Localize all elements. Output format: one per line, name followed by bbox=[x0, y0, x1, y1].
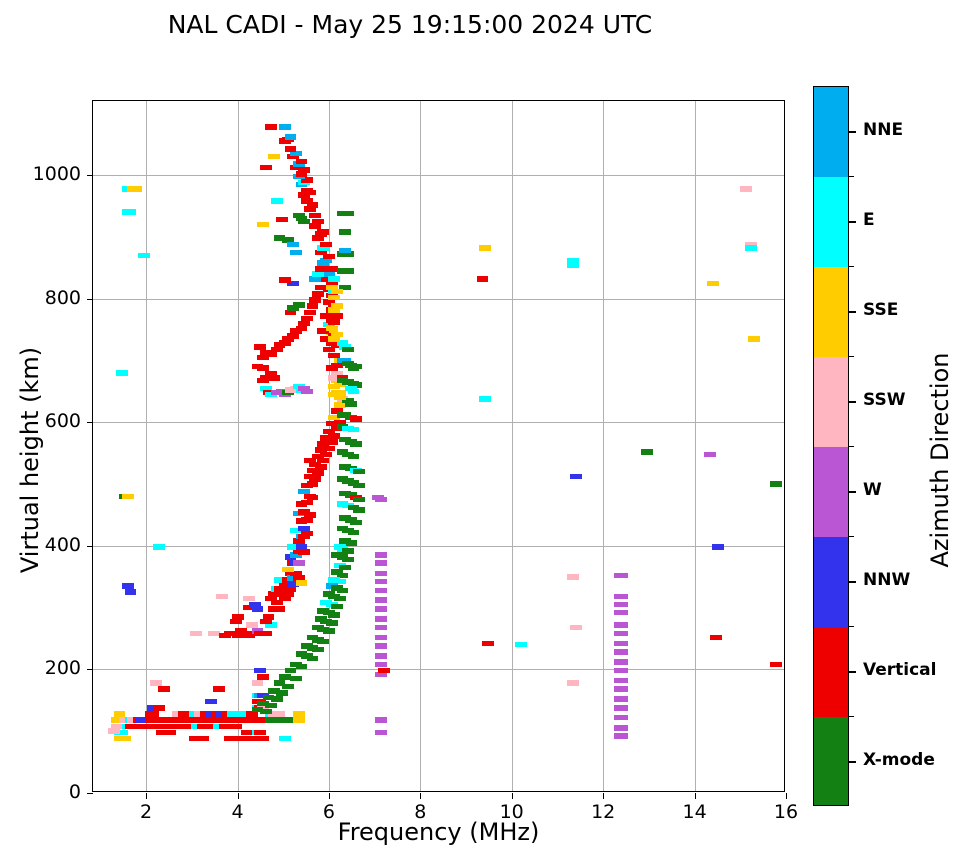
scatter-point bbox=[274, 606, 286, 612]
scatter-point bbox=[375, 597, 387, 603]
y-axis-title: Virtual height (km) bbox=[16, 280, 44, 640]
scatter-point bbox=[114, 736, 126, 742]
scatter-point bbox=[293, 711, 305, 717]
y-tick-label: 1000 bbox=[11, 163, 81, 185]
colorbar-title: Azimuth Direction bbox=[926, 280, 954, 640]
scatter-point bbox=[293, 302, 305, 308]
scatter-point bbox=[345, 401, 357, 407]
scatter-point bbox=[216, 594, 228, 600]
scatter-point bbox=[197, 736, 209, 742]
scatter-point bbox=[616, 631, 628, 637]
scatter-point bbox=[479, 396, 491, 402]
scatter-point bbox=[108, 728, 120, 734]
scatter-point bbox=[232, 614, 244, 620]
colorbar-boundary-tick bbox=[849, 716, 854, 717]
scatter-point bbox=[378, 668, 390, 674]
scatter-point bbox=[326, 285, 338, 291]
scatter-point bbox=[515, 642, 527, 648]
scatter-point bbox=[312, 291, 324, 297]
scatter-point bbox=[375, 497, 387, 503]
scatter-point bbox=[375, 653, 387, 659]
scatter-point bbox=[260, 631, 272, 637]
scatter-point bbox=[710, 635, 722, 641]
scatter-point bbox=[342, 347, 354, 353]
scatter-point bbox=[190, 631, 202, 637]
scatter-point bbox=[337, 588, 349, 594]
scatter-point bbox=[276, 217, 288, 223]
scatter-point bbox=[230, 724, 242, 730]
scatter-point bbox=[265, 703, 277, 709]
scatter-point bbox=[375, 625, 387, 631]
scatter-point bbox=[320, 242, 332, 248]
scatter-point bbox=[350, 520, 362, 526]
scatter-point bbox=[339, 248, 351, 254]
scatter-point bbox=[616, 610, 628, 616]
scatter-point bbox=[375, 643, 387, 649]
colorbar-boundary-tick bbox=[849, 536, 854, 537]
scatter-point bbox=[342, 548, 354, 554]
scatter-point bbox=[567, 680, 579, 686]
scatter-point bbox=[285, 586, 297, 592]
y-tick bbox=[87, 793, 93, 794]
scatter-point bbox=[326, 439, 338, 445]
scatter-point bbox=[375, 571, 387, 577]
scatter-point bbox=[328, 319, 340, 325]
colorbar-segment-x-mode bbox=[814, 717, 848, 806]
colorbar-label-ssw: SSW bbox=[863, 390, 905, 410]
scatter-point bbox=[477, 276, 489, 282]
scatter-point bbox=[570, 625, 582, 631]
scatter-point bbox=[287, 242, 299, 248]
colorbar-segment-e bbox=[814, 177, 848, 267]
scatter-point bbox=[375, 717, 387, 723]
scatter-point bbox=[320, 452, 332, 458]
scatter-point bbox=[296, 159, 308, 165]
scatter-point bbox=[342, 211, 354, 217]
scatter-point bbox=[307, 303, 319, 309]
x-tick bbox=[420, 793, 421, 799]
scatter-point bbox=[616, 602, 628, 608]
scatter-point bbox=[770, 481, 782, 487]
scatter-point bbox=[116, 370, 128, 376]
scatter-point bbox=[707, 281, 719, 287]
page-title: NAL CADI - May 25 19:15:00 2024 UTC bbox=[0, 10, 820, 39]
colorbar-tick bbox=[849, 311, 856, 313]
scatter-point bbox=[375, 730, 387, 736]
scatter-point bbox=[312, 219, 324, 225]
y-tick bbox=[87, 175, 93, 176]
colorbar-segment-ssw bbox=[814, 357, 848, 447]
scatter-point bbox=[317, 229, 329, 235]
colorbar-segment-sse bbox=[814, 267, 848, 357]
scatter-point bbox=[331, 303, 343, 309]
scatter-point bbox=[114, 711, 126, 717]
scatter-point bbox=[290, 676, 302, 682]
scatter-point bbox=[641, 449, 653, 455]
colorbar-boundary-tick bbox=[849, 446, 854, 447]
colorbar-tick bbox=[849, 761, 856, 763]
scatter-point bbox=[304, 512, 316, 518]
scatter-point bbox=[740, 186, 752, 192]
scatter-point bbox=[301, 198, 313, 204]
scatter-point bbox=[304, 310, 316, 316]
colorbar-segment-nnw bbox=[814, 537, 848, 627]
colorbar-boundary-tick bbox=[849, 266, 854, 267]
scatter-point bbox=[301, 500, 313, 506]
colorbar-label-nne: NNE bbox=[863, 120, 903, 140]
scatter-point bbox=[301, 316, 313, 322]
scatter-point bbox=[350, 364, 362, 370]
scatter-point bbox=[353, 483, 365, 489]
scatter-point bbox=[268, 375, 280, 381]
scatter-point bbox=[348, 530, 360, 536]
scatter-point bbox=[745, 245, 757, 251]
scatter-point bbox=[375, 552, 387, 558]
scatter-point bbox=[249, 602, 261, 608]
colorbar-label-e: E bbox=[863, 210, 875, 230]
scatter-point bbox=[309, 476, 321, 482]
scatter-point bbox=[304, 190, 316, 196]
scatter-point bbox=[616, 573, 628, 579]
scatter-point bbox=[122, 494, 134, 500]
colorbar-label-x-mode: X-mode bbox=[863, 750, 935, 770]
scatter-point bbox=[712, 544, 724, 550]
colorbar-tick bbox=[849, 221, 856, 223]
scatter-point bbox=[348, 389, 360, 395]
ionogram-figure: NAL CADI - May 25 19:15:00 2024 UTC 2468… bbox=[0, 0, 958, 857]
scatter-point bbox=[342, 268, 354, 274]
scatter-point bbox=[265, 124, 277, 130]
scatter-point bbox=[348, 454, 360, 460]
scatter-point bbox=[265, 352, 277, 358]
colorbar-tick bbox=[849, 491, 856, 493]
scatter-point bbox=[298, 321, 310, 327]
y-tick-label: 200 bbox=[11, 657, 81, 679]
x-tick bbox=[329, 793, 330, 799]
plot-area[interactable]: 24681012141602004006008001000 bbox=[92, 100, 785, 792]
scatter-point bbox=[301, 531, 313, 537]
scatter-point bbox=[254, 730, 266, 736]
y-tick bbox=[87, 422, 93, 423]
scatter-point bbox=[348, 427, 360, 433]
colorbar-boundary-tick bbox=[849, 176, 854, 177]
scatter-point bbox=[205, 699, 217, 705]
x-tick bbox=[512, 793, 513, 799]
scatter-point bbox=[616, 705, 628, 711]
scatter-point bbox=[312, 647, 324, 653]
scatter-point bbox=[147, 711, 159, 717]
scatter-point bbox=[616, 659, 628, 665]
colorbar-boundary-tick bbox=[849, 626, 854, 627]
colorbar-label-vertical: Vertical bbox=[863, 660, 936, 680]
scatter-point bbox=[296, 580, 308, 586]
colorbar-segment-w bbox=[814, 447, 848, 537]
scatter-point bbox=[138, 253, 150, 259]
scatter-point bbox=[164, 730, 176, 736]
scatter-point bbox=[279, 736, 291, 742]
colorbar-segment-nne bbox=[814, 87, 848, 177]
colorbar-gradient bbox=[813, 86, 849, 806]
scatter-point bbox=[254, 344, 266, 350]
scatter-point bbox=[353, 497, 365, 503]
scatter-point bbox=[293, 560, 305, 566]
y-tick bbox=[87, 669, 93, 670]
scatter-point bbox=[307, 481, 319, 487]
scatter-point bbox=[298, 219, 310, 225]
scatter-point bbox=[375, 616, 387, 622]
scatter-point bbox=[285, 668, 297, 674]
scatter-point bbox=[298, 549, 310, 555]
scatter-point bbox=[616, 649, 628, 655]
scatter-point bbox=[616, 678, 628, 684]
scatter-point bbox=[479, 245, 491, 251]
scatter-point bbox=[317, 458, 329, 464]
scatter-point bbox=[263, 614, 275, 620]
scatter-point bbox=[130, 186, 142, 192]
scatter-point bbox=[350, 416, 362, 422]
scatter-point bbox=[282, 591, 294, 597]
scatter-point bbox=[326, 620, 338, 626]
scatter-point bbox=[158, 686, 170, 692]
scatter-point bbox=[326, 326, 338, 332]
scatter-point bbox=[312, 271, 324, 277]
scatter-point bbox=[246, 622, 258, 628]
scatter-point bbox=[271, 696, 283, 702]
scatter-point bbox=[770, 662, 782, 668]
scatter-point bbox=[307, 656, 319, 662]
scatter-point bbox=[271, 198, 283, 204]
scatter-point bbox=[312, 470, 324, 476]
colorbar-segment-vertical bbox=[814, 627, 848, 717]
scatter-point bbox=[298, 489, 310, 495]
y-tick bbox=[87, 299, 93, 300]
scatter-point bbox=[315, 464, 327, 470]
x-tick bbox=[786, 793, 787, 799]
scatter-point bbox=[257, 674, 269, 680]
scatter-point bbox=[616, 668, 628, 674]
scatter-point bbox=[331, 604, 343, 610]
scatter-point bbox=[301, 517, 313, 523]
colorbar-tick bbox=[849, 671, 856, 673]
scatter-point bbox=[213, 686, 225, 692]
scatter-point bbox=[254, 668, 266, 674]
scatter-point bbox=[285, 146, 297, 152]
scatter-point bbox=[260, 709, 272, 715]
scatter-point bbox=[482, 641, 494, 647]
colorbar-tick bbox=[849, 401, 856, 403]
scatter-point bbox=[301, 389, 313, 395]
scatter-point bbox=[353, 507, 365, 513]
scatter-point bbox=[122, 583, 134, 589]
scatter-point bbox=[296, 664, 308, 670]
scatter-point bbox=[279, 277, 291, 283]
x-tick bbox=[603, 793, 604, 799]
scatter-point bbox=[323, 628, 335, 634]
scatter-point bbox=[307, 495, 319, 501]
scatter-point bbox=[279, 124, 291, 130]
scatter-point bbox=[315, 266, 327, 272]
scatter-point bbox=[309, 297, 321, 303]
scatter-point bbox=[328, 612, 340, 618]
scatter-point bbox=[268, 154, 280, 160]
colorbar[interactable]: NNEESSESSWWNNWVerticalX-mode bbox=[813, 86, 849, 806]
scatter-point bbox=[282, 684, 294, 690]
scatter-point bbox=[334, 596, 346, 602]
scatter-point bbox=[309, 276, 321, 282]
scatter-point bbox=[375, 635, 387, 641]
scatter-point bbox=[375, 606, 387, 612]
scatter-point bbox=[257, 222, 269, 228]
scatter-point bbox=[257, 736, 269, 742]
scatter-point bbox=[334, 395, 346, 401]
colorbar-label-nnw: NNW bbox=[863, 570, 910, 590]
scatter-point bbox=[375, 579, 387, 585]
scatter-data-layer bbox=[93, 101, 784, 791]
scatter-point bbox=[287, 333, 299, 339]
colorbar-boundary-tick bbox=[849, 356, 854, 357]
x-tick bbox=[695, 793, 696, 799]
scatter-point bbox=[353, 469, 365, 475]
colorbar-tick bbox=[849, 131, 856, 133]
x-axis-title: Frequency (MHz) bbox=[92, 818, 785, 846]
scatter-point bbox=[130, 724, 142, 730]
scatter-point bbox=[282, 567, 294, 573]
scatter-point bbox=[274, 711, 286, 717]
scatter-point bbox=[328, 295, 340, 301]
y-tick-label: 0 bbox=[11, 781, 81, 803]
scatter-point bbox=[331, 313, 343, 319]
scatter-point bbox=[252, 680, 264, 686]
scatter-point bbox=[328, 276, 340, 282]
colorbar-tick bbox=[849, 581, 856, 583]
x-tick bbox=[238, 793, 239, 799]
scatter-point bbox=[296, 326, 308, 332]
scatter-point bbox=[150, 680, 162, 686]
scatter-point bbox=[257, 365, 269, 371]
scatter-point bbox=[616, 622, 628, 628]
scatter-point bbox=[276, 690, 288, 696]
scatter-point bbox=[616, 686, 628, 692]
scatter-point bbox=[342, 557, 354, 563]
scatter-point bbox=[704, 452, 716, 458]
scatter-point bbox=[616, 594, 628, 600]
scatter-point bbox=[375, 588, 387, 594]
scatter-point bbox=[748, 336, 760, 342]
scatter-point bbox=[570, 474, 582, 480]
scatter-point bbox=[125, 589, 137, 595]
colorbar-label-w: W bbox=[863, 480, 882, 500]
scatter-point bbox=[616, 696, 628, 702]
colorbar-label-sse: SSE bbox=[863, 300, 898, 320]
scatter-point bbox=[350, 441, 362, 447]
scatter-point bbox=[260, 165, 272, 171]
scatter-point bbox=[331, 332, 343, 338]
scatter-point bbox=[616, 725, 628, 731]
scatter-point bbox=[345, 540, 357, 546]
scatter-point bbox=[153, 705, 165, 711]
scatter-point bbox=[290, 250, 302, 256]
scatter-point bbox=[616, 715, 628, 721]
scatter-point bbox=[285, 134, 297, 140]
scatter-point bbox=[567, 574, 579, 580]
scatter-point bbox=[153, 544, 165, 550]
scatter-point bbox=[323, 446, 335, 452]
scatter-point bbox=[243, 596, 255, 602]
scatter-point bbox=[375, 560, 387, 566]
scatter-point bbox=[293, 717, 305, 723]
scatter-point bbox=[317, 639, 329, 645]
scatter-point bbox=[616, 733, 628, 739]
y-tick bbox=[87, 546, 93, 547]
scatter-point bbox=[375, 662, 387, 668]
scatter-point bbox=[125, 209, 137, 215]
scatter-point bbox=[339, 229, 351, 235]
scatter-point bbox=[309, 213, 321, 219]
x-tick bbox=[146, 793, 147, 799]
scatter-point bbox=[616, 641, 628, 647]
scatter-point bbox=[567, 262, 579, 268]
